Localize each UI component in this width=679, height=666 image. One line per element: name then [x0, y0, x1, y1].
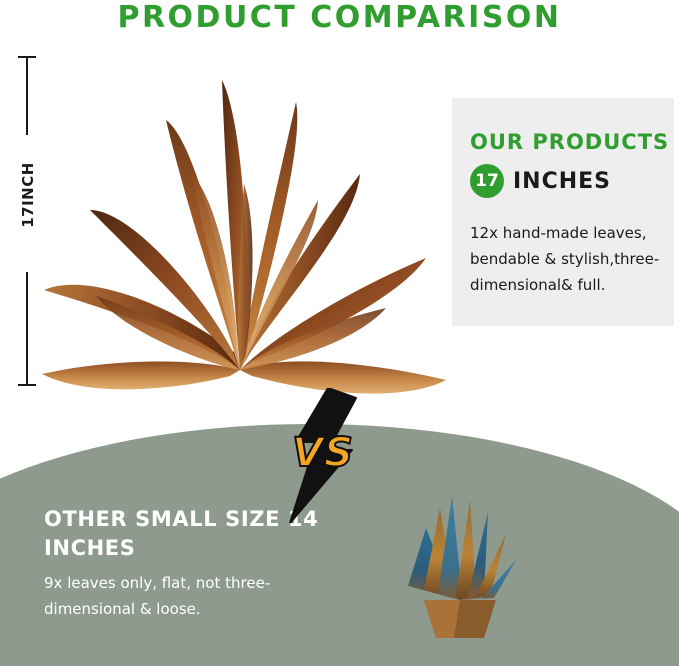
vs-label: VS: [268, 430, 378, 476]
number-badge-icon: 17: [470, 164, 504, 198]
our-products-card: OUR PRODUCTS 17 INCHES 12x hand-made lea…: [452, 98, 674, 326]
measurement-cap-bottom: [18, 384, 36, 386]
agave-plant-large-image: [40, 40, 460, 400]
agave-plant-large-svg: [40, 40, 460, 400]
other-product-description: 9x leaves only, flat, not three-dimensio…: [44, 570, 334, 622]
measurement-bar: 17INCH: [14, 56, 40, 386]
product-comparison-image: PRODUCT COMPARISON 17INCH: [0, 0, 679, 666]
agave-plant-small-svg: [380, 470, 540, 640]
measurement-label: 17INCH: [19, 135, 37, 255]
agave-plant-small-image: [380, 470, 540, 640]
card-heading: OUR PRODUCTS: [470, 130, 669, 154]
card-unit-label: INCHES: [513, 169, 611, 194]
page-title: PRODUCT COMPARISON: [0, 0, 679, 35]
planter-base: [424, 600, 496, 638]
vs-badge: VS: [268, 388, 378, 523]
card-description: 12x hand-made leaves, bendable & stylish…: [470, 220, 662, 298]
size-badge-row: 17 INCHES: [470, 164, 611, 198]
